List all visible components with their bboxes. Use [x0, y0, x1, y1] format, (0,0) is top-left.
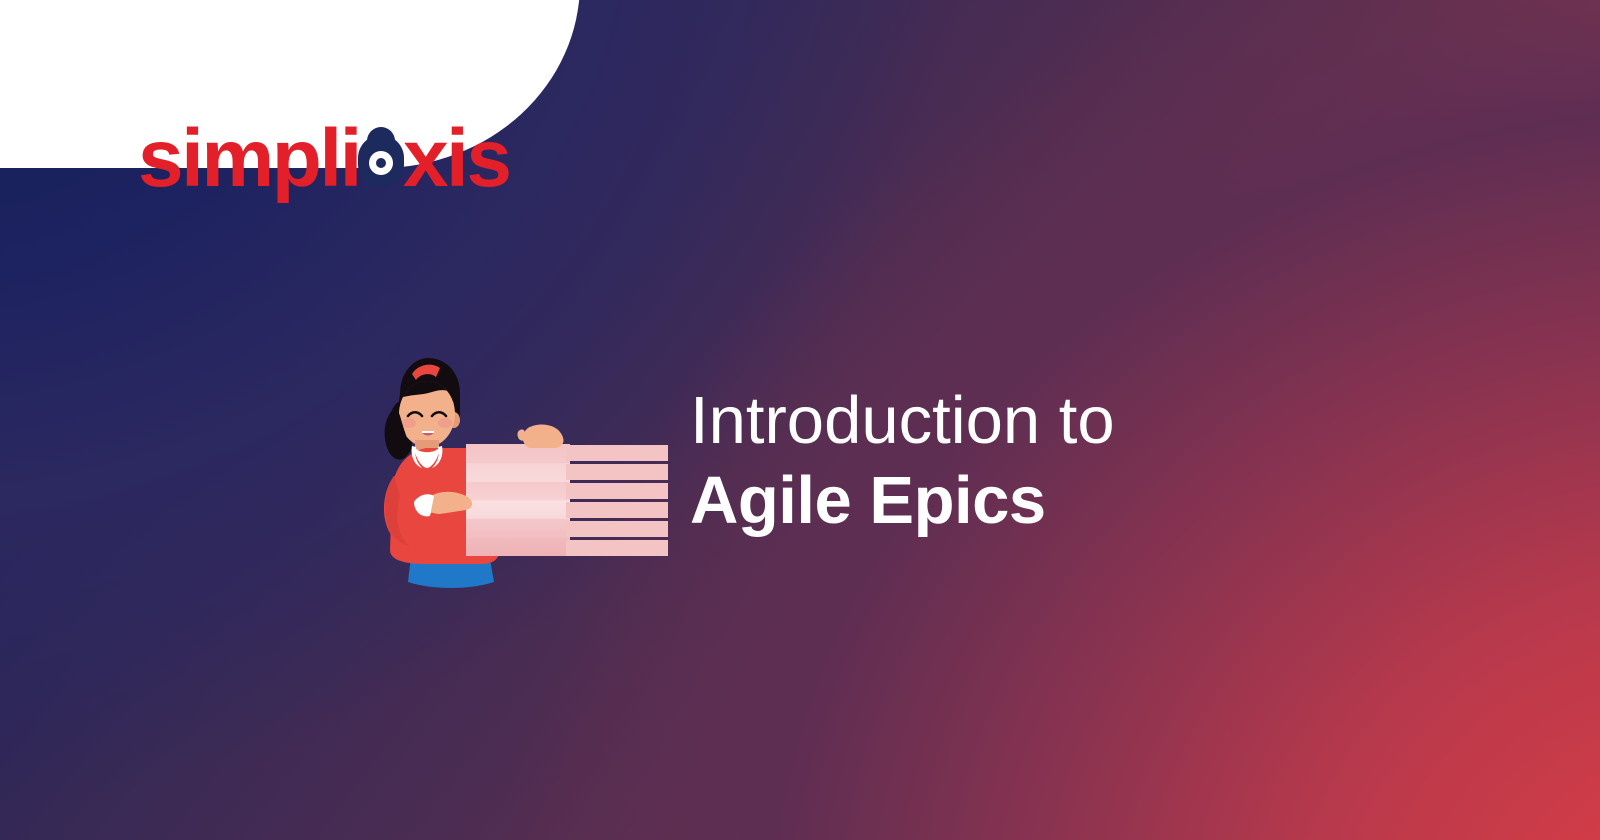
title-line-1: Introduction to [690, 381, 1115, 461]
title-line-2: Agile Epics [690, 461, 1115, 541]
cheek-icon [402, 418, 416, 428]
cheek-icon [438, 418, 452, 428]
simpliaxis-logo[interactable]: simpli xis [138, 118, 509, 200]
banner-root: simpli xis Introduction to Agile Epics [0, 0, 1600, 840]
logo-text-before: simpli [138, 118, 360, 200]
card-stack-left [466, 444, 570, 556]
logo-a-lock-icon [358, 127, 404, 187]
card-stack-right [566, 445, 668, 556]
illustration-woman-with-cards [370, 350, 690, 600]
logo-text-after: xis [403, 118, 510, 200]
page-title: Introduction to Agile Epics [690, 381, 1115, 541]
